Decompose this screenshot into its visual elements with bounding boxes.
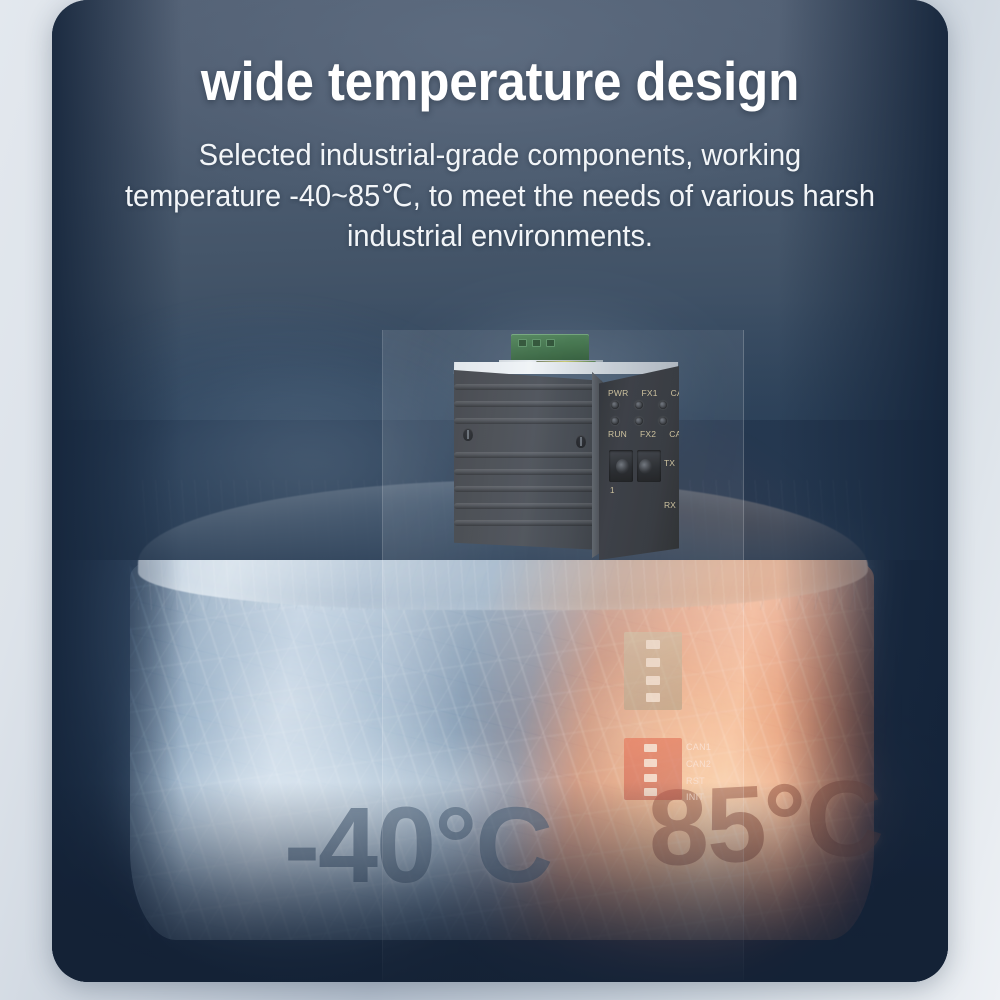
header-text-block: wide temperature design Selected industr… (52, 0, 948, 256)
device-port-panel: PWR FX1 CAN1 RUN (599, 366, 679, 560)
dip-switch (644, 774, 657, 782)
led-label-run: RUN (608, 429, 627, 439)
led-label-row-bottom: RUN FX2 CAN2 (608, 429, 693, 439)
dip-label-init: INIT (686, 792, 704, 802)
heatsink-fin (454, 452, 602, 458)
dip-switch (646, 640, 660, 649)
dip-switch (646, 676, 660, 685)
led-lamp-run (611, 417, 619, 425)
led-lamp-can1 (659, 401, 667, 409)
heatsink-fin (454, 486, 602, 492)
chassis-screw (576, 435, 586, 448)
ice-cold-overlay (110, 570, 510, 982)
led-label-row-top: PWR FX1 CAN1 (608, 388, 694, 398)
dip-label-rst: RST (686, 776, 705, 786)
led-lamp-fx1 (635, 401, 643, 409)
page-root: -40°C 85°C (0, 0, 1000, 1000)
dip-switch-panel-upper (624, 632, 682, 710)
dip-switch (646, 693, 660, 702)
led-lamp-pwr (611, 401, 619, 409)
fiber-port-right (637, 450, 661, 482)
chassis-screw (463, 428, 473, 441)
port-index-label: 1 (610, 486, 614, 495)
heatsink-fin (454, 520, 602, 526)
heatsink-fin (454, 401, 602, 407)
heatsink-fin (454, 418, 602, 424)
heatsink-fin (454, 384, 602, 390)
port-label-tx: TX (664, 458, 675, 468)
device-heatsink-face (454, 370, 602, 550)
dip-label-can1: CAN1 (686, 742, 711, 752)
terminal-pin (532, 339, 541, 347)
dip-switch (644, 788, 657, 796)
fiber-port-hole (639, 459, 652, 474)
dip-switch (644, 759, 657, 767)
industrial-switch-device: PWR FX1 CAN1 RUN (444, 334, 696, 564)
led-label-can1: CAN1 (671, 388, 694, 398)
heatsink-fin (454, 469, 602, 475)
dip-switch-panel-lower (624, 738, 682, 800)
fiber-port-left (609, 450, 633, 482)
fiber-port-hole (616, 459, 629, 474)
led-label-fx1: FX1 (641, 388, 657, 398)
led-lamp-row-top (611, 401, 667, 409)
port-label-rx: RX (664, 500, 676, 510)
led-lamp-can2 (659, 417, 667, 425)
terminal-pin (546, 339, 555, 347)
led-label-fx2: FX2 (640, 429, 656, 439)
feature-card: -40°C 85°C (52, 0, 948, 982)
dip-label-can2: CAN2 (686, 759, 711, 769)
heatsink-fin (454, 503, 602, 509)
power-terminal-block (511, 334, 589, 361)
terminal-pin (518, 339, 527, 347)
led-label-pwr: PWR (608, 388, 628, 398)
page-subtitle: Selected industrial-grade components, wo… (120, 135, 880, 256)
page-title: wide temperature design (83, 52, 916, 111)
device-top-plate (454, 362, 678, 374)
led-lamp-fx2 (635, 417, 643, 425)
led-label-can2: CAN2 (669, 429, 692, 439)
dip-switch (644, 744, 657, 752)
dip-switch (646, 658, 660, 667)
cold-temperature-watermark: -40°C (284, 782, 551, 907)
led-lamp-row-bottom (611, 417, 667, 425)
